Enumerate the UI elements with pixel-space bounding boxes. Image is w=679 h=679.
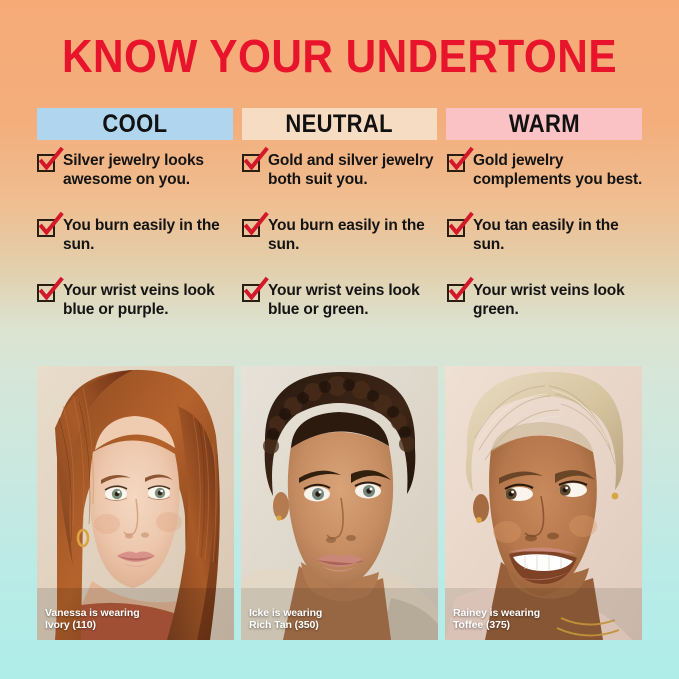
checklist-cool: Silver jewelry looks awesome on you. You… <box>37 152 234 347</box>
photo-caption-line2: Toffee (375) <box>453 619 540 631</box>
checklist-item: You burn easily in the sun. <box>37 217 234 263</box>
checkbox-checked-icon <box>37 154 55 172</box>
checklist-item-label: You burn easily in the sun. <box>63 217 234 254</box>
checkbox-checked-icon <box>37 219 55 237</box>
checkbox-checked-icon <box>242 154 260 172</box>
checklist-item-label: You burn easily in the sun. <box>268 217 439 254</box>
checklist-item: Your wrist veins look blue or purple. <box>37 282 234 328</box>
column-header-warm: WARM <box>446 108 642 140</box>
checkbox-checked-icon <box>447 154 465 172</box>
checklist-item-label: Gold jewelry complements you best. <box>473 152 644 189</box>
portrait-vanessa <box>37 366 234 640</box>
checklist-item: Your wrist veins look blue or green. <box>242 282 439 328</box>
checkbox-checked-icon <box>447 219 465 237</box>
checkbox-checked-icon <box>242 284 260 302</box>
checklist-item-label: Gold and silver jewelry both suit you. <box>268 152 439 189</box>
column-header-neutral-label: NEUTRAL <box>286 110 394 139</box>
photo-caption-line2: Rich Tan (350) <box>249 619 322 631</box>
checklist-item-label: Your wrist veins look green. <box>473 282 644 319</box>
checklist-neutral: Gold and silver jewelry both suit you. Y… <box>242 152 439 347</box>
undertone-checklists: Silver jewelry looks awesome on you. You… <box>37 152 644 347</box>
column-header-cool-label: COOL <box>102 110 167 139</box>
checklist-item-label: Your wrist veins look blue or purple. <box>63 282 234 319</box>
model-photo-vanessa: Vanessa is wearing Ivory (110) <box>37 366 234 640</box>
portrait-rainey <box>445 366 642 640</box>
photo-caption: Vanessa is wearing Ivory (110) <box>45 607 140 631</box>
undertone-infographic: KNOW YOUR UNDERTONE COOL NEUTRAL WARM Si… <box>0 0 679 679</box>
column-header-warm-label: WARM <box>509 110 580 139</box>
checklist-item: You burn easily in the sun. <box>242 217 439 263</box>
checklist-item-label: You tan easily in the sun. <box>473 217 644 254</box>
photo-caption: Rainey is wearing Toffee (375) <box>453 607 540 631</box>
model-photo-icke: Icke is wearing Rich Tan (350) <box>241 366 438 640</box>
page-title: KNOW YOUR UNDERTONE <box>27 31 652 81</box>
checklist-warm: Gold jewelry complements you best. You t… <box>447 152 644 347</box>
checkbox-checked-icon <box>447 284 465 302</box>
checklist-item: Gold jewelry complements you best. <box>447 152 644 198</box>
checkbox-checked-icon <box>37 284 55 302</box>
checkbox-checked-icon <box>242 219 260 237</box>
checklist-item-label: Your wrist veins look blue or green. <box>268 282 439 319</box>
checklist-item-label: Silver jewelry looks awesome on you. <box>63 152 234 189</box>
checklist-item: Gold and silver jewelry both suit you. <box>242 152 439 198</box>
checklist-item: Silver jewelry looks awesome on you. <box>37 152 234 198</box>
checklist-item: You tan easily in the sun. <box>447 217 644 263</box>
photo-caption-line1: Icke is wearing <box>249 607 322 619</box>
portrait-icke <box>241 366 438 640</box>
photo-caption-line1: Vanessa is wearing <box>45 607 140 619</box>
photo-caption-line2: Ivory (110) <box>45 619 140 631</box>
undertone-header-row: COOL NEUTRAL WARM <box>37 108 642 140</box>
column-header-neutral: NEUTRAL <box>242 108 438 140</box>
model-photo-rainey: Rainey is wearing Toffee (375) <box>445 366 642 640</box>
checklist-item: Your wrist veins look green. <box>447 282 644 328</box>
column-header-cool: COOL <box>37 108 233 140</box>
model-photo-row: Vanessa is wearing Ivory (110) <box>37 366 642 640</box>
photo-caption-line1: Rainey is wearing <box>453 607 540 619</box>
photo-caption: Icke is wearing Rich Tan (350) <box>249 607 322 631</box>
